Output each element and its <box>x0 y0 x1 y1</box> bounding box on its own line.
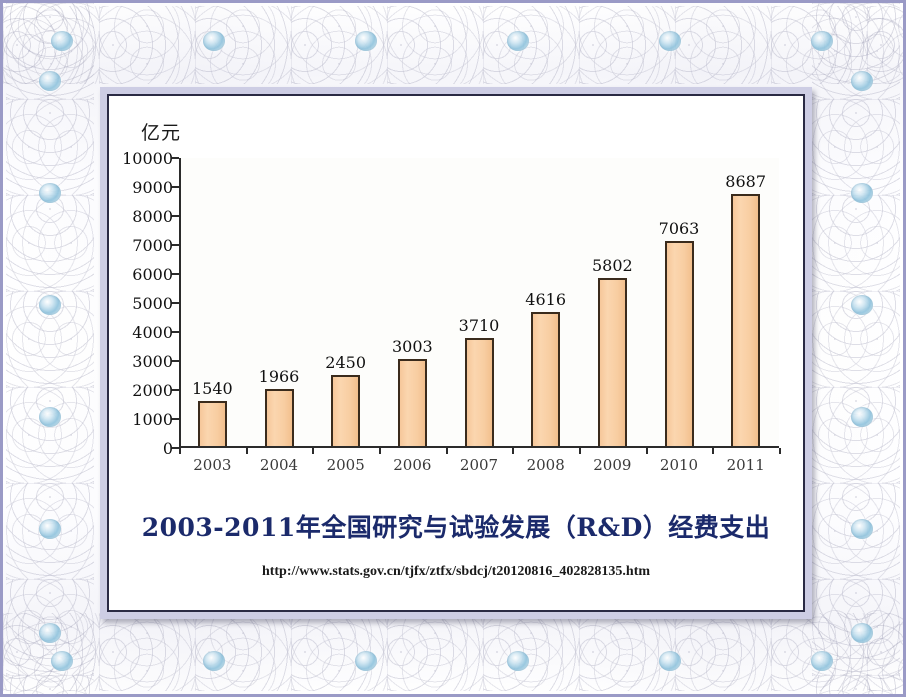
bar-2006 <box>398 359 427 446</box>
y-axis-tick <box>172 186 179 188</box>
filigree-ornament-right <box>812 3 900 694</box>
source-url: http://www.stats.gov.cn/tjfx/ztfx/sbdcj/… <box>109 564 803 580</box>
x-axis-label-2007: 2007 <box>460 456 498 474</box>
blue-gem-accent <box>851 407 873 427</box>
y-axis-tick <box>172 360 179 362</box>
y-axis-tick-label: 8000 <box>132 207 173 226</box>
blue-gem-accent <box>51 651 73 671</box>
blue-gem-accent <box>203 31 225 51</box>
chart-caption: 2003-2011年全国研究与试验发展（R&D）经费支出 <box>109 508 803 544</box>
x-axis-line <box>179 446 779 448</box>
bar-2009 <box>598 278 627 446</box>
x-axis-tick <box>312 448 314 454</box>
x-axis-label-2009: 2009 <box>593 456 631 474</box>
y-axis-tick-label: 9000 <box>132 178 173 197</box>
bar-value-label-2006: 3003 <box>392 337 433 356</box>
bar-value-label-2009: 5802 <box>592 256 633 275</box>
bar-value-label-2004: 1966 <box>259 367 300 386</box>
blue-gem-accent <box>507 31 529 51</box>
bar-value-label-2008: 4616 <box>525 290 566 309</box>
x-axis-tick <box>779 448 781 454</box>
blue-gem-accent <box>659 31 681 51</box>
bar-value-label-2011: 8687 <box>725 172 766 191</box>
blue-gem-accent <box>851 519 873 539</box>
x-axis-tick <box>646 448 648 454</box>
y-axis-tick <box>172 157 179 159</box>
decorative-frame: 亿元 1000090008000700060005000400030002000… <box>0 0 906 697</box>
blue-gem-accent <box>355 651 377 671</box>
bar-2007 <box>465 338 494 446</box>
bar-2003 <box>198 401 227 446</box>
x-axis-label-2005: 2005 <box>327 456 365 474</box>
x-axis-label-2003: 2003 <box>193 456 231 474</box>
y-axis-tick-label: 4000 <box>132 323 173 342</box>
blue-gem-accent <box>851 623 873 643</box>
y-axis-tick-label: 5000 <box>132 294 173 313</box>
blue-gem-accent <box>39 407 61 427</box>
y-axis-tick-label: 3000 <box>132 352 173 371</box>
bar-value-label-2005: 2450 <box>325 353 366 372</box>
x-axis-tick <box>379 448 381 454</box>
y-axis-tick-label: 6000 <box>132 265 173 284</box>
bar-2011 <box>731 194 760 446</box>
content-panel-inner: 亿元 1000090008000700060005000400030002000… <box>107 94 805 612</box>
blue-gem-accent <box>811 651 833 671</box>
y-axis-tick <box>172 244 179 246</box>
x-axis-tick <box>246 448 248 454</box>
bar-value-label-2007: 3710 <box>459 316 500 335</box>
content-panel: 亿元 1000090008000700060005000400030002000… <box>100 87 812 619</box>
blue-gem-accent <box>507 651 529 671</box>
bar-2010 <box>665 241 694 446</box>
bar-2008 <box>531 312 560 446</box>
x-axis-tick <box>712 448 714 454</box>
x-axis-tick <box>512 448 514 454</box>
x-axis-label-2010: 2010 <box>660 456 698 474</box>
bar-value-label-2010: 7063 <box>659 219 700 238</box>
bar-2005 <box>331 375 360 446</box>
blue-gem-accent <box>39 71 61 91</box>
blue-gem-accent <box>203 651 225 671</box>
blue-gem-accent <box>811 31 833 51</box>
filigree-ornament-left <box>6 3 94 694</box>
y-axis-tick <box>172 389 179 391</box>
x-axis-label-2006: 2006 <box>393 456 431 474</box>
y-axis-tick <box>172 447 179 449</box>
y-axis-tick-label: 1000 <box>132 410 173 429</box>
x-axis-tick <box>579 448 581 454</box>
blue-gem-accent <box>659 651 681 671</box>
bar-value-label-2003: 1540 <box>192 379 233 398</box>
blue-gem-accent <box>851 295 873 315</box>
blue-gem-accent <box>39 519 61 539</box>
bar-chart: 亿元 1000090008000700060005000400030002000… <box>109 96 807 516</box>
x-axis-tick <box>446 448 448 454</box>
plot-area: 1000090008000700060005000400030002000100… <box>179 158 779 448</box>
y-axis-tick-label: 7000 <box>132 236 173 255</box>
y-axis-line <box>179 158 181 448</box>
y-axis-unit-label: 亿元 <box>141 118 181 145</box>
x-axis-label-2008: 2008 <box>527 456 565 474</box>
blue-gem-accent <box>851 183 873 203</box>
blue-gem-accent <box>51 31 73 51</box>
y-axis-tick-label: 10000 <box>122 149 173 168</box>
y-axis-tick <box>172 418 179 420</box>
blue-gem-accent <box>39 183 61 203</box>
filigree-ornament-bottom <box>3 613 903 691</box>
blue-gem-accent <box>851 71 873 91</box>
y-axis-tick <box>172 215 179 217</box>
y-axis-tick-label: 0 <box>163 439 173 458</box>
y-axis-tick <box>172 273 179 275</box>
blue-gem-accent <box>39 623 61 643</box>
y-axis-tick-label: 2000 <box>132 381 173 400</box>
bar-2004 <box>265 389 294 446</box>
blue-gem-accent <box>39 295 61 315</box>
filigree-ornament-top <box>3 6 903 84</box>
blue-gem-accent <box>355 31 377 51</box>
y-axis-tick <box>172 302 179 304</box>
x-axis-tick <box>179 448 181 454</box>
x-axis-label-2004: 2004 <box>260 456 298 474</box>
y-axis-tick <box>172 331 179 333</box>
x-axis-label-2011: 2011 <box>727 456 765 474</box>
